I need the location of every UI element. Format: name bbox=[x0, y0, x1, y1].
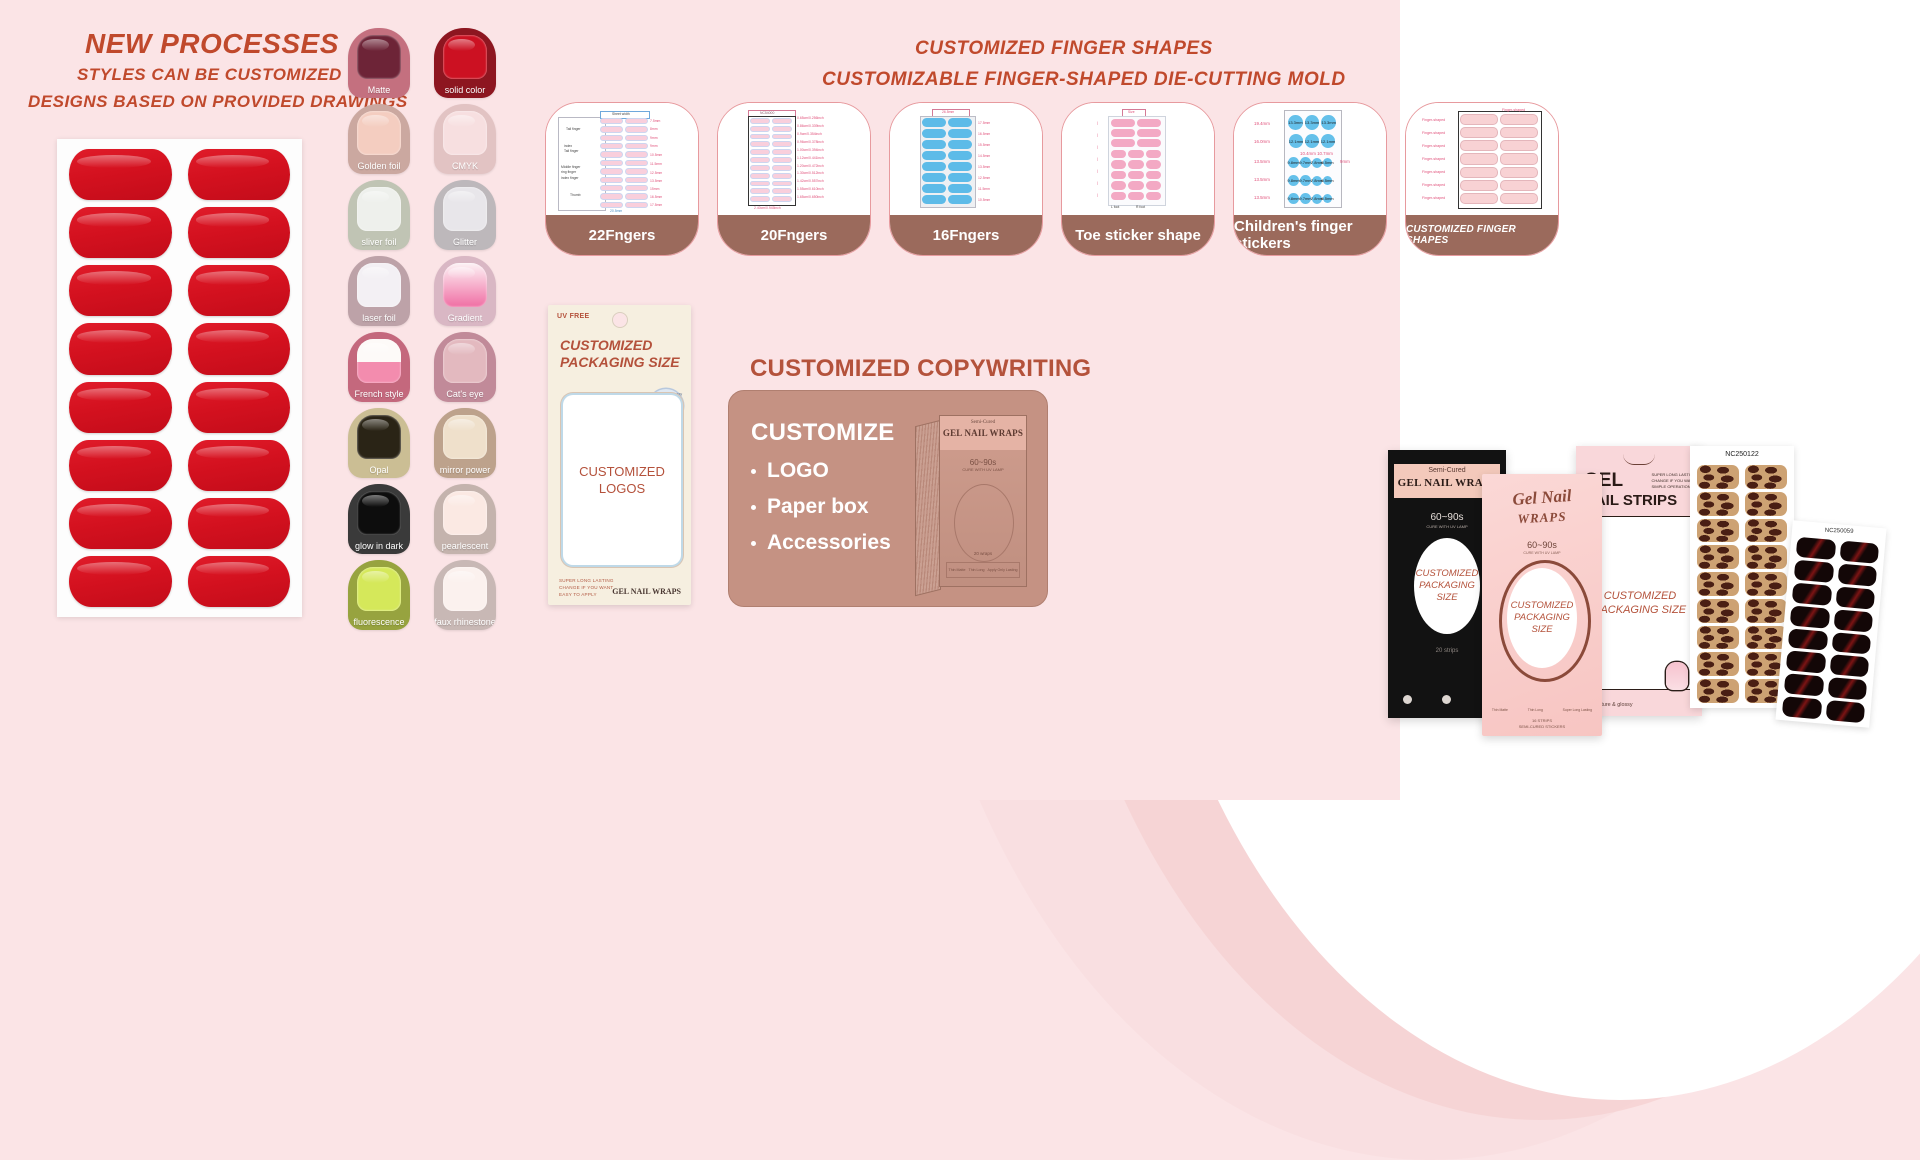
red-nail-wrap bbox=[69, 498, 172, 549]
feature-icon bbox=[1442, 695, 1451, 704]
nail-strip bbox=[1786, 651, 1826, 674]
swatch-column-1: MatteGolden foilsliver foillaser foilFre… bbox=[348, 28, 410, 636]
swatch-fluorescence[interactable]: fluorescence bbox=[348, 560, 410, 630]
swatch-nail-preview bbox=[443, 187, 487, 231]
black-box-window: CUSTOMIZED PACKAGING SIZE bbox=[1414, 538, 1480, 634]
red-nail-wrap bbox=[188, 149, 291, 200]
notch-icon bbox=[1623, 454, 1655, 465]
subtitle-styles: STYLES CAN BE CUSTOMIZED bbox=[77, 65, 342, 85]
swatch-nail-preview bbox=[443, 35, 487, 79]
nail-strip bbox=[1697, 465, 1739, 489]
swatch-nail-preview bbox=[443, 491, 487, 535]
swatch-golden-foil[interactable]: Golden foil bbox=[348, 104, 410, 174]
red-nail-wrap bbox=[69, 382, 172, 433]
card-artwork-22: Tail finger indexTail finger Middle fing… bbox=[546, 103, 698, 215]
copywriting-panel: CUSTOMIZE LOGO Paper box Accessories Sem… bbox=[728, 390, 1048, 607]
swatch-label: sliver foil bbox=[348, 237, 410, 250]
red-nail-wrap bbox=[188, 556, 291, 607]
copywriting-heading: CUSTOMIZE bbox=[751, 419, 895, 447]
swatch-laser-foil[interactable]: laser foil bbox=[348, 256, 410, 326]
swatch-label: solid color bbox=[434, 85, 496, 98]
heading-copywriting: CUSTOMIZED COPYWRITING bbox=[750, 355, 1091, 383]
nail-strip bbox=[1697, 572, 1739, 596]
strip-sheet-dark[interactable]: NC250059 bbox=[1775, 520, 1886, 727]
card-caption-22: 22Fngers bbox=[546, 215, 698, 255]
logo-window-text: CUSTOMIZED LOGOS bbox=[563, 463, 681, 497]
box-small-label: Semi-Cured bbox=[940, 420, 1026, 425]
box-front-face: Semi-Cured GEL NAIL WRAPS 60~90s CURE WI… bbox=[939, 415, 1027, 587]
bullet-icon bbox=[751, 469, 756, 474]
hang-hole-icon bbox=[612, 312, 628, 328]
dark-nail-grid bbox=[1782, 537, 1879, 723]
swatch-nail-preview bbox=[443, 263, 487, 307]
box-icon-label: Thin Matte bbox=[949, 568, 966, 572]
nail-strip bbox=[1745, 465, 1787, 489]
swatch-label: Opal bbox=[348, 465, 410, 478]
pink-box-seconds: 60~90s bbox=[1482, 540, 1602, 550]
copywriting-item-logo: LOGO bbox=[751, 459, 895, 483]
finger-shape-card-custom[interactable]: Finger-shaped Finger-shaped Finger-shape… bbox=[1405, 102, 1559, 256]
pink-box-icons: Thin Matte Thin Long Super Long Lasting bbox=[1482, 708, 1602, 712]
nail-strip bbox=[1745, 545, 1787, 569]
copywriting-item-label: LOGO bbox=[767, 459, 829, 483]
packaging-title: CUSTOMIZED PACKAGING SIZE bbox=[560, 337, 681, 371]
swatch-nail-preview bbox=[443, 567, 487, 611]
finger-shape-card-22[interactable]: Tail finger indexTail finger Middle fing… bbox=[545, 102, 699, 256]
nail-strip bbox=[1784, 673, 1824, 696]
swatch-nail-preview bbox=[357, 567, 401, 611]
card-artwork-toe: Size | | | | | | bbox=[1062, 103, 1214, 215]
swatch-glow-in-dark[interactable]: glow in dark bbox=[348, 484, 410, 554]
product-pink-box[interactable]: Gel Nail WRAPS 60~90s CURE WITH UV LAMP … bbox=[1482, 474, 1602, 736]
bullet-icon bbox=[751, 505, 756, 510]
swatch-nail-preview bbox=[443, 111, 487, 155]
logo-window: CUSTOMIZED LOGOS bbox=[563, 395, 681, 565]
card-artwork-16: 26.5mm 17.5mm 16.5mm 15.5mm 14.5mm 13.5m… bbox=[890, 103, 1042, 215]
nail-strip bbox=[1697, 492, 1739, 516]
pink-box-window: CUSTOMIZED PACKAGING SIZE bbox=[1507, 568, 1577, 668]
nail-strip bbox=[1827, 677, 1867, 700]
box-icon-strip: Thin Matte Thin Long Apply Only Lasting bbox=[946, 562, 1020, 578]
nail-strip bbox=[1782, 696, 1822, 719]
feature-icon-label: Thin Long bbox=[1528, 708, 1543, 712]
pink-box-sub: CURE WITH UV LAMP bbox=[1482, 551, 1602, 555]
red-nail-grid bbox=[69, 149, 290, 607]
card-caption-16: 16Fngers bbox=[890, 215, 1042, 255]
red-nail-wrap bbox=[69, 440, 172, 491]
card-artwork-20: NC54000 0.65cm/0.256inch 0.86cm/0.33 bbox=[718, 103, 870, 215]
red-nail-wrap bbox=[69, 207, 172, 258]
red-nail-wrap bbox=[188, 382, 291, 433]
box-seconds: 60~90s bbox=[940, 458, 1026, 467]
card-caption-20: 20Fngers bbox=[718, 215, 870, 255]
nail-strip bbox=[1794, 560, 1834, 583]
nail-strip bbox=[1790, 605, 1830, 628]
finish-swatch-panel: MatteGolden foilsliver foillaser foilFre… bbox=[348, 28, 508, 640]
product-photo-group: Semi-Cured GEL NAIL WRAPS 60~90s CURE WI… bbox=[1380, 440, 1920, 740]
swatch-nail-preview bbox=[357, 35, 401, 79]
copywriting-item-paperbox: Paper box bbox=[751, 495, 895, 519]
swatch-label: Cat's eye bbox=[434, 389, 496, 402]
finger-shape-card-20[interactable]: NC54000 0.65cm/0.256inch 0.86cm/0.33 bbox=[717, 102, 871, 256]
card-artwork-children: 19.4mm 16.0mm 13.5mm 13.5mm 13.5mm 13.3m… bbox=[1234, 103, 1386, 215]
swatch-label: laser foil bbox=[348, 313, 410, 326]
red-nail-wrap bbox=[69, 556, 172, 607]
white-box-window-text: CUSTOMIZED PACKAGING SIZE bbox=[1586, 589, 1694, 617]
black-box-small-label: Semi-Cured bbox=[1394, 467, 1500, 474]
leopard-nail-grid bbox=[1697, 465, 1787, 703]
copywriting-item-accessories: Accessories bbox=[751, 531, 895, 555]
swatch-nail-preview bbox=[443, 339, 487, 383]
pink-box-footer: 16 STRIPS SEMI-CURED STICKERS bbox=[1482, 718, 1602, 730]
nail-strip bbox=[1697, 599, 1739, 623]
red-nail-wrap bbox=[188, 265, 291, 316]
copywriting-item-label: Paper box bbox=[767, 495, 869, 519]
card-caption-toe: Toe sticker shape bbox=[1062, 215, 1214, 255]
nail-strip bbox=[1697, 545, 1739, 569]
red-nail-wrap bbox=[188, 323, 291, 374]
swatch-pearlescent[interactable]: pearlescent bbox=[434, 484, 496, 554]
card-caption-children: Children's finger stickers bbox=[1234, 215, 1386, 255]
swatch-label: CMYK bbox=[434, 161, 496, 174]
nail-strip bbox=[1829, 654, 1869, 677]
strip-sheet-leopard[interactable]: NC250122 bbox=[1690, 446, 1794, 708]
swatch-label: glow in dark bbox=[348, 541, 410, 554]
nail-strip bbox=[1745, 599, 1787, 623]
swatch-nail-preview bbox=[357, 263, 401, 307]
paper-box-sketch: Semi-Cured GEL NAIL WRAPS 60~90s CURE WI… bbox=[901, 409, 1033, 594]
pink-box-window-text: CUSTOMIZED PACKAGING SIZE bbox=[1507, 600, 1577, 636]
nail-strip bbox=[1745, 492, 1787, 516]
swatch-nail-preview bbox=[357, 415, 401, 459]
nail-strip bbox=[1835, 586, 1875, 609]
swatch-solid-color[interactable]: solid color bbox=[434, 28, 496, 98]
swatch-label: Golden foil bbox=[348, 161, 410, 174]
nail-strip bbox=[1745, 626, 1787, 650]
swatch-label: Matte bbox=[348, 85, 410, 98]
nail-strip bbox=[1697, 679, 1739, 703]
feature-icon bbox=[1403, 695, 1412, 704]
nail-strip bbox=[1788, 628, 1828, 651]
swatch-label: fluorescence bbox=[348, 617, 410, 630]
bullet-icon bbox=[751, 541, 756, 546]
red-nail-wrap-sheet bbox=[57, 139, 302, 617]
box-count: 20 wraps bbox=[940, 551, 1026, 556]
feature-icon-label: Thin Matte bbox=[1492, 708, 1508, 712]
box-side-face bbox=[915, 420, 941, 596]
finger-shape-card-row: Tail finger indexTail finger Middle fing… bbox=[545, 102, 1905, 262]
nail-strip bbox=[1839, 541, 1879, 564]
swatch-faux-rhinestone[interactable]: faux rhinestone bbox=[434, 560, 496, 630]
red-nail-wrap bbox=[69, 149, 172, 200]
feature-icon-label: Super Long Lasting bbox=[1563, 708, 1592, 712]
box-sub: CURE WITH UV LAMP bbox=[940, 467, 1026, 472]
box-title: GEL NAIL WRAPS bbox=[940, 428, 1026, 438]
swatch-nail-preview bbox=[357, 491, 401, 535]
nail-strip bbox=[1697, 519, 1739, 543]
swatch-cmyk[interactable]: CMYK bbox=[434, 104, 496, 174]
heading-die-cutting: CUSTOMIZABLE FINGER-SHAPED DIE-CUTTING M… bbox=[822, 69, 1346, 91]
swatch-sliver-foil[interactable]: sliver foil bbox=[348, 180, 410, 250]
swatch-gradient[interactable]: Gradient bbox=[434, 256, 496, 326]
nail-strip bbox=[1833, 609, 1873, 632]
swatch-label: faux rhinestone bbox=[434, 617, 496, 630]
red-nail-wrap bbox=[188, 207, 291, 258]
swatch-nail-preview bbox=[357, 339, 401, 383]
nail-strip bbox=[1837, 563, 1877, 586]
swatch-mirror-power[interactable]: mirror power bbox=[434, 408, 496, 478]
nail-strip bbox=[1697, 652, 1739, 676]
nail-strip bbox=[1796, 537, 1836, 560]
nail-strip bbox=[1745, 572, 1787, 596]
packaging-footer-right: GEL NAIL WRAPS bbox=[612, 587, 681, 597]
copywriting-list: CUSTOMIZE LOGO Paper box Accessories bbox=[751, 419, 895, 555]
card-caption-custom: CUSTOMIZED FINGER SHAPES bbox=[1406, 215, 1558, 255]
strip-sheet-code: NC250122 bbox=[1690, 451, 1794, 458]
heading-finger-shapes: CUSTOMIZED FINGER SHAPES bbox=[915, 38, 1213, 60]
card-artwork-custom: Finger-shaped Finger-shaped Finger-shape… bbox=[1406, 103, 1558, 215]
packaging-mockup-card[interactable]: UV FREE CUSTOMIZED PACKAGING SIZE Full t… bbox=[548, 305, 691, 605]
swatch-label: Glitter bbox=[434, 237, 496, 250]
swatch-glitter[interactable]: Glitter bbox=[434, 180, 496, 250]
swatch-nail-preview bbox=[357, 187, 401, 231]
red-nail-wrap bbox=[188, 440, 291, 491]
red-nail-wrap bbox=[69, 265, 172, 316]
page-title: NEW PROCESSES bbox=[85, 28, 339, 60]
nail-strip bbox=[1697, 626, 1739, 650]
nail-chip-icon bbox=[1666, 662, 1688, 690]
finger-shape-card-children[interactable]: 19.4mm 16.0mm 13.5mm 13.5mm 13.5mm 13.3m… bbox=[1233, 102, 1387, 256]
swatch-cat-s-eye[interactable]: Cat's eye bbox=[434, 332, 496, 402]
copywriting-item-label: Accessories bbox=[767, 531, 891, 555]
box-icon-label: Apply Only Lasting bbox=[988, 568, 1018, 572]
swatch-label: French style bbox=[348, 389, 410, 402]
swatch-label: mirror power bbox=[434, 465, 496, 478]
swatch-nail-preview bbox=[357, 111, 401, 155]
swatch-label: Gradient bbox=[434, 313, 496, 326]
swatch-matte[interactable]: Matte bbox=[348, 28, 410, 98]
swatch-opal[interactable]: Opal bbox=[348, 408, 410, 478]
black-box-window-text: CUSTOMIZED PACKAGING SIZE bbox=[1414, 568, 1480, 604]
packaging-footer-left: SUPER LONG LASTING CHANGE IF YOU WANT EA… bbox=[559, 577, 614, 598]
finger-shape-card-toe[interactable]: Size | | | | | | bbox=[1061, 102, 1215, 256]
red-nail-wrap bbox=[188, 498, 291, 549]
strip-sheet-code: NC250059 bbox=[1792, 527, 1886, 536]
swatch-label: pearlescent bbox=[434, 541, 496, 554]
nail-strip bbox=[1792, 582, 1832, 605]
red-nail-wrap bbox=[69, 323, 172, 374]
box-icon-label: Thin Long bbox=[969, 568, 985, 572]
nail-strip bbox=[1745, 519, 1787, 543]
uv-free-label: UV FREE bbox=[557, 313, 589, 320]
swatch-french-style[interactable]: French style bbox=[348, 332, 410, 402]
swatch-nail-preview bbox=[443, 415, 487, 459]
swatch-column-2: solid colorCMYKGlitterGradientCat's eyem… bbox=[434, 28, 496, 636]
nail-strip bbox=[1825, 700, 1865, 723]
finger-shape-card-16[interactable]: 26.5mm 17.5mm 16.5mm 15.5mm 14.5mm 13.5m… bbox=[889, 102, 1043, 256]
nail-strip bbox=[1831, 632, 1871, 655]
